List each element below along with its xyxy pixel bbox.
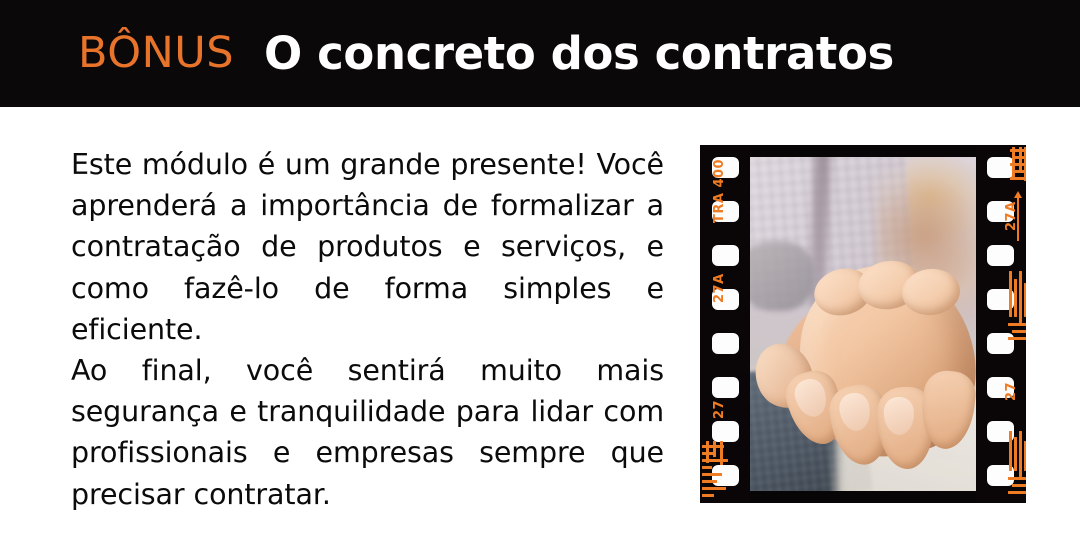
film-barcode-right-top: [1010, 147, 1026, 199]
body-text-block: Este módulo é um grande presente! Você a…: [71, 144, 664, 515]
sprocket-hole: [712, 333, 739, 354]
film-marking-27a-left: 27A: [712, 273, 727, 303]
header-bonus-badge: BÔNUS: [78, 32, 234, 75]
sprocket-hole: [987, 245, 1014, 266]
film-marking-27-left: 27: [712, 400, 727, 419]
sprocket-hole: [712, 245, 739, 266]
body-paragraph-1: Este módulo é um grande presente! Você a…: [71, 144, 664, 350]
film-barcode-right-bottom: [1008, 431, 1026, 501]
film-marking-27-right: 27: [1004, 382, 1019, 401]
film-marking-tra400: TRA 400: [712, 159, 727, 223]
sprocket-hole: [712, 421, 739, 442]
handshake-photo: [750, 157, 976, 491]
page-title: O concreto dos contratos: [264, 31, 894, 76]
film-barcode-left: [702, 441, 732, 499]
photo-sleeve: [750, 241, 814, 311]
film-strip-frame: TRA 400 27A 27: [700, 145, 1026, 503]
sprocket-hole: [712, 377, 739, 398]
slide-root: BÔNUS O concreto dos contratos Este módu…: [0, 0, 1080, 560]
header-bar: BÔNUS O concreto dos contratos: [0, 0, 1080, 107]
film-strip-image: TRA 400 27A 27: [700, 145, 1026, 503]
film-barcode-right-mid: [1008, 271, 1026, 345]
body-paragraph-2: Ao final, você sentirá muito mais segura…: [71, 350, 664, 515]
film-rail-right: 27A 27: [976, 145, 1026, 503]
film-rail-left: TRA 400 27A 27: [700, 145, 750, 503]
